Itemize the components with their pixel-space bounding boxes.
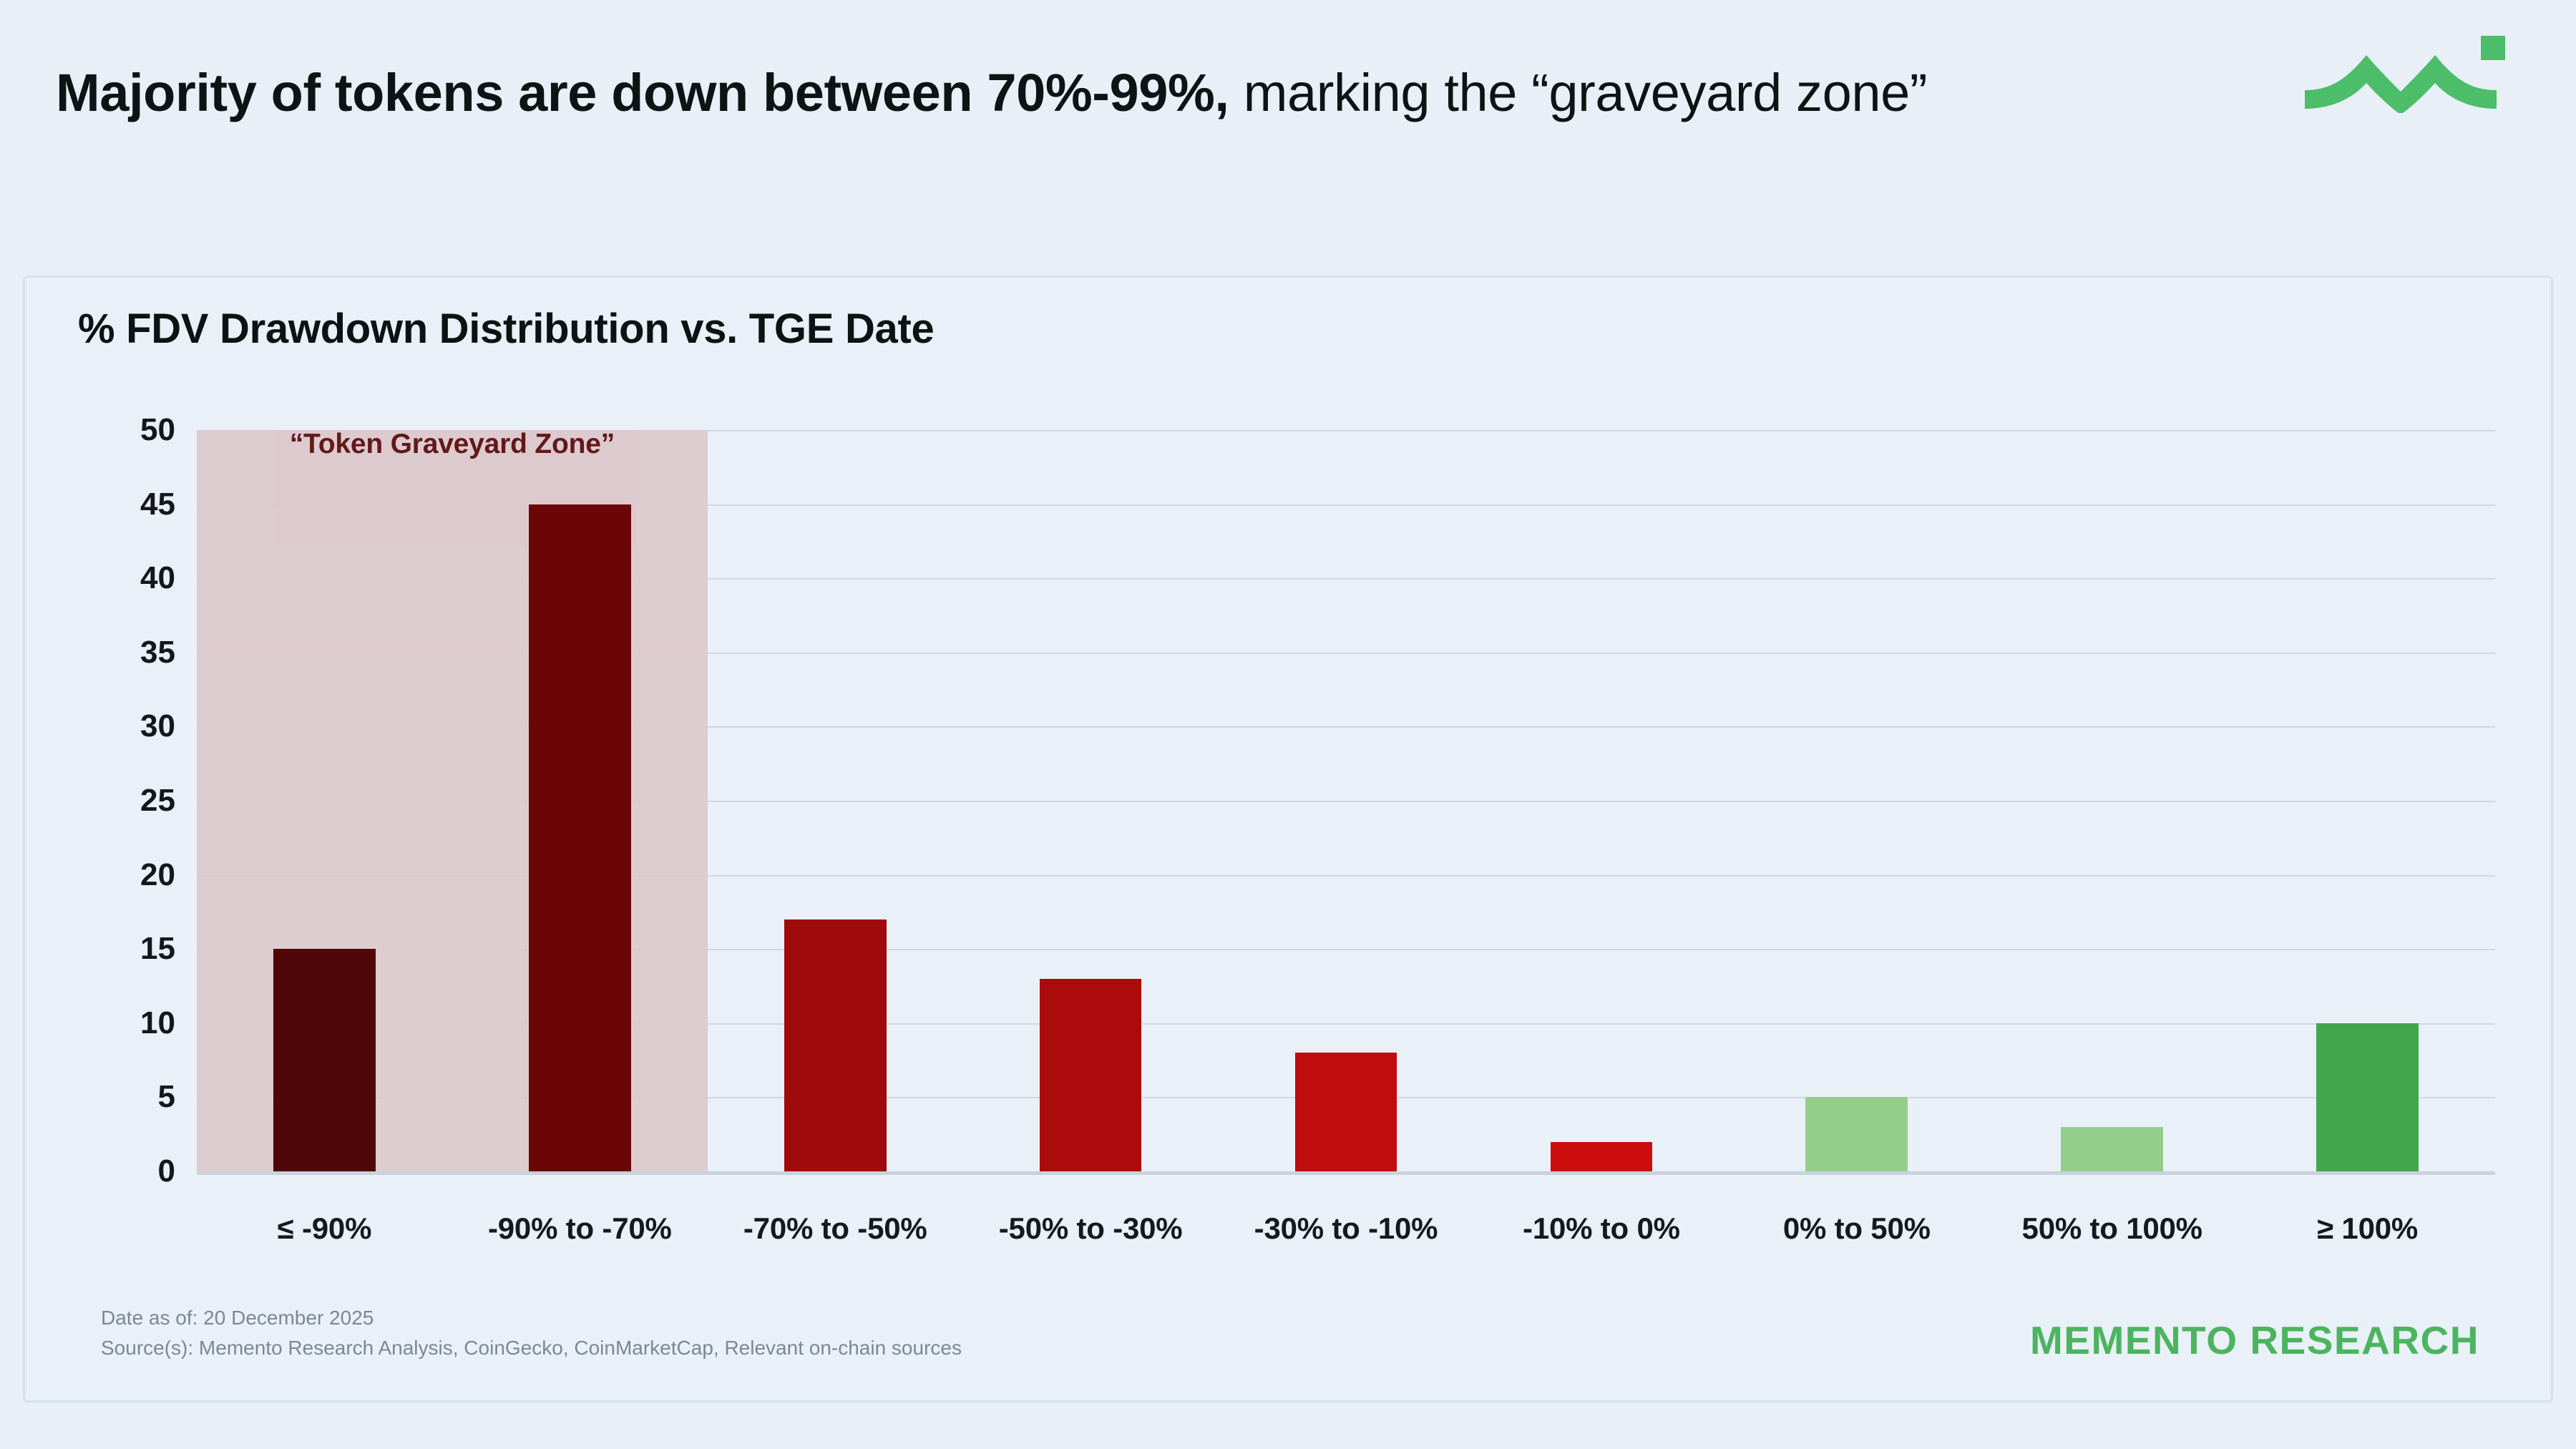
y-axis-tick-label: 20 — [140, 857, 197, 893]
y-axis-tick-label: 50 — [140, 412, 197, 448]
x-axis-tick-label: -10% to 0% — [1473, 1211, 1729, 1246]
bar-slot[interactable]: ≥ 100% — [2240, 430, 2495, 1171]
slide-root: Majority of tokens are down between 70%-… — [0, 0, 2576, 1449]
x-axis-tick-label: 50% to 100% — [1984, 1211, 2240, 1246]
brand-wordmark: MEMENTO RESEARCH — [2030, 1317, 2479, 1363]
bar[interactable] — [529, 504, 631, 1171]
y-axis-tick-label: 0 — [158, 1153, 197, 1189]
bar[interactable] — [1551, 1142, 1653, 1171]
y-axis-tick-label: 45 — [140, 487, 197, 522]
bar-slot[interactable]: -30% to -10% — [1219, 430, 1474, 1171]
bar-slot[interactable]: ≤ -90% — [197, 430, 452, 1171]
bar-series: ≤ -90%-90% to -70%-70% to -50%-50% to -3… — [197, 430, 2495, 1171]
chart-card: % FDV Drawdown Distribution vs. TGE Date… — [23, 275, 2553, 1402]
bar-slot[interactable]: -10% to 0% — [1473, 430, 1729, 1171]
x-axis-tick-label: -50% to -30% — [963, 1211, 1219, 1246]
bar-slot[interactable]: -50% to -30% — [963, 430, 1219, 1171]
page-title: Majority of tokens are down between 70%-… — [56, 62, 2245, 124]
bar[interactable] — [784, 919, 887, 1171]
memento-logo-icon — [2301, 34, 2508, 113]
x-axis-tick-label: -30% to -10% — [1219, 1211, 1474, 1246]
bar[interactable] — [1805, 1097, 1908, 1171]
y-axis-tick-label: 30 — [140, 708, 197, 744]
y-axis-tick-label: 40 — [140, 560, 197, 596]
y-axis-tick-label: 10 — [140, 1005, 197, 1041]
x-axis-tick-label: -70% to -50% — [708, 1211, 963, 1246]
y-axis-tick-label: 15 — [140, 931, 197, 967]
bar[interactable] — [1295, 1053, 1397, 1171]
chart-title: % FDV Drawdown Distribution vs. TGE Date — [78, 305, 934, 353]
bar[interactable] — [1040, 979, 1142, 1171]
footer-date: Date as of: 20 December 2025 — [101, 1303, 962, 1333]
y-axis-tick-label: 35 — [140, 635, 197, 670]
chart-area: 50454035302520151050 “Token Graveyard Zo… — [78, 403, 2518, 1307]
x-axis-tick-label: -90% to -70% — [452, 1211, 708, 1246]
x-axis-tick-label: 0% to 50% — [1729, 1211, 1984, 1246]
bar-slot[interactable]: 50% to 100% — [1984, 430, 2240, 1171]
bar[interactable] — [273, 949, 376, 1171]
footer-notes: Date as of: 20 December 2025 Source(s): … — [101, 1303, 962, 1363]
x-axis-tick-label: ≥ 100% — [2240, 1211, 2495, 1246]
page-title-rest: marking the “graveyard zone” — [1229, 63, 1928, 122]
y-axis-tick-label: 5 — [158, 1079, 197, 1115]
header: Majority of tokens are down between 70%-… — [56, 62, 2245, 124]
gridline — [197, 1171, 2495, 1175]
x-axis-tick-label: ≤ -90% — [197, 1211, 452, 1246]
bar-slot[interactable]: -70% to -50% — [708, 430, 963, 1171]
bar[interactable] — [2061, 1127, 2163, 1171]
y-axis-tick-label: 25 — [140, 783, 197, 819]
bar-slot[interactable]: -90% to -70% — [452, 430, 708, 1171]
bar-slot[interactable]: 0% to 50% — [1729, 430, 1984, 1171]
footer-source: Source(s): Memento Research Analysis, Co… — [101, 1333, 962, 1363]
bar[interactable] — [2316, 1023, 2419, 1171]
page-title-emphasis: Majority of tokens are down between 70%-… — [56, 63, 1229, 122]
plot-area: 50454035302520151050 “Token Graveyard Zo… — [197, 430, 2495, 1171]
